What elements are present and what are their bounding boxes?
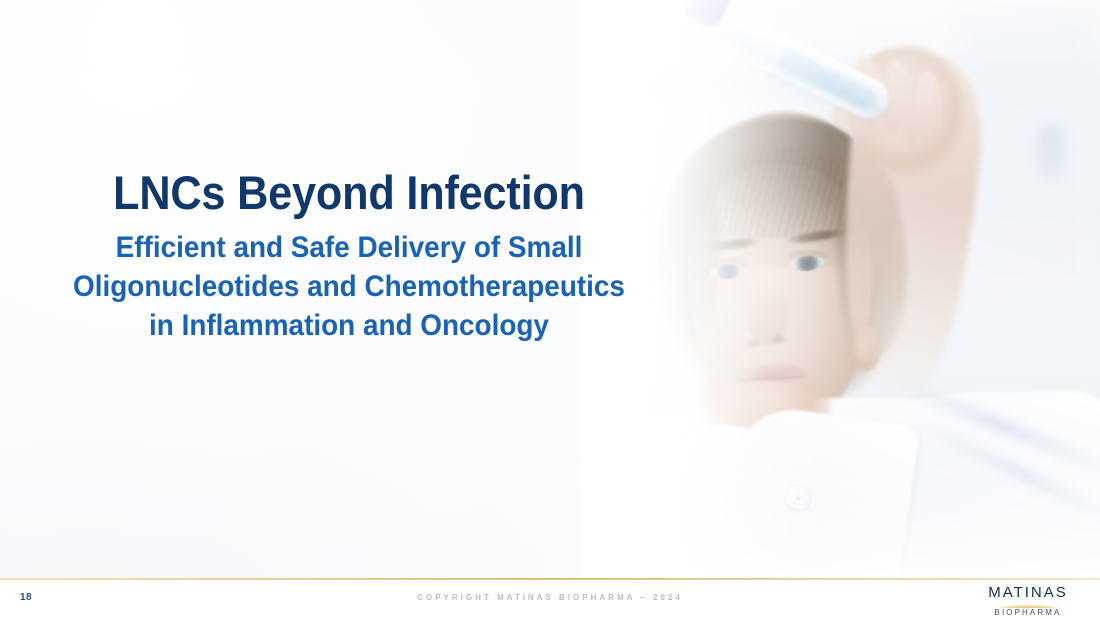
subtitle-line-1: Efficient and Safe Delivery of Small bbox=[56, 228, 642, 267]
slide-text-block: LNCs Beyond Infection Efficient and Safe… bbox=[34, 168, 664, 345]
logo-swoosh-icon bbox=[982, 603, 1074, 608]
matinas-logo: MATINAS BIOPHARMA bbox=[972, 585, 1084, 617]
subtitle-line-2: Oligonucleotides and Chemotherapeutics bbox=[56, 267, 642, 306]
logo-wordmark: MATINAS bbox=[972, 585, 1084, 601]
presentation-slide: LNCs Beyond Infection Efficient and Safe… bbox=[0, 0, 1100, 619]
logo-tagline: BIOPHARMA bbox=[972, 609, 1084, 617]
subtitle-line-3: in Inflammation and Oncology bbox=[56, 306, 642, 345]
page-title: LNCs Beyond Infection bbox=[59, 168, 639, 218]
slide-subtitle: Efficient and Safe Delivery of Small Oli… bbox=[56, 228, 642, 345]
copyright-notice: COPYRIGHT MATINAS BIOPHARMA – 2024 bbox=[0, 593, 1100, 602]
slide-footer: 18 COPYRIGHT MATINAS BIOPHARMA – 2024 MA… bbox=[0, 580, 1100, 619]
